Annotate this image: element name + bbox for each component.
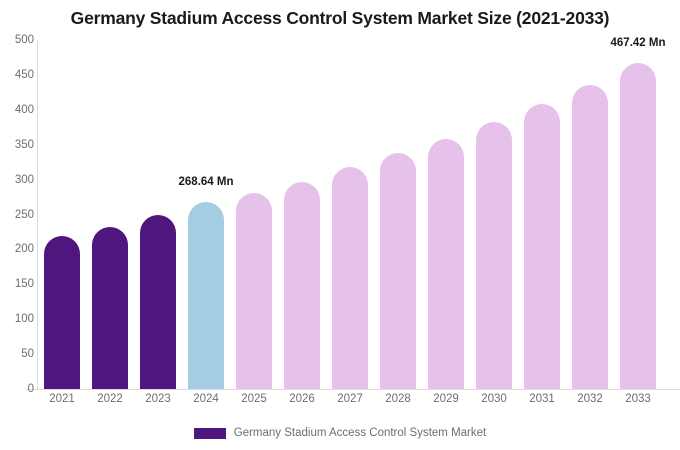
bar-slot (230, 40, 278, 389)
bar[interactable] (572, 85, 608, 389)
bar[interactable] (284, 182, 320, 389)
x-axis-tick-label: 2026 (278, 393, 326, 405)
chart-title: Germany Stadium Access Control System Ma… (0, 8, 680, 29)
bar[interactable] (140, 215, 176, 389)
bar-slot (278, 40, 326, 389)
x-axis-line (26, 389, 680, 390)
y-axis-tick-label: 500 (4, 34, 34, 46)
bar-slot (86, 40, 134, 389)
x-axis-tick-label: 2028 (374, 393, 422, 405)
bar-slot (326, 40, 374, 389)
x-axis-tick-label: 2030 (470, 393, 518, 405)
bar[interactable] (236, 193, 272, 389)
y-axis-tick-label: 450 (4, 69, 34, 81)
x-axis-tick-label: 2027 (326, 393, 374, 405)
legend-color-swatch (194, 428, 226, 439)
x-axis-tick-label: 2033 (614, 393, 662, 405)
y-axis-tick-labels: 050100150200250300350400450500 (0, 0, 34, 450)
x-axis-tick-label: 2029 (422, 393, 470, 405)
bar-slot (134, 40, 182, 389)
y-axis-tick-label: 300 (4, 174, 34, 186)
x-axis-tick-label: 2021 (38, 393, 86, 405)
bar-slot (470, 40, 518, 389)
x-axis-tick-label: 2025 (230, 393, 278, 405)
y-axis-tick-label: 250 (4, 209, 34, 221)
bar-slot (422, 40, 470, 389)
bar[interactable] (524, 104, 560, 389)
y-axis-tick-label: 0 (4, 383, 34, 395)
bar[interactable] (44, 236, 80, 389)
y-axis-tick-label: 50 (4, 348, 34, 360)
bar-slot (182, 40, 230, 389)
bar-slot (38, 40, 86, 389)
bar[interactable] (380, 153, 416, 389)
bar-series: 268.64 Mn467.42 Mn (38, 40, 680, 389)
x-axis-tick-label: 2031 (518, 393, 566, 405)
bar[interactable] (476, 122, 512, 389)
bar-value-label: 268.64 Mn (179, 176, 234, 188)
bar[interactable] (92, 227, 128, 389)
bar-slot (374, 40, 422, 389)
bar[interactable] (332, 167, 368, 389)
bar[interactable] (428, 139, 464, 389)
bar-slot (518, 40, 566, 389)
chart-legend: Germany Stadium Access Control System Ma… (0, 427, 680, 439)
y-axis-tick-label: 200 (4, 243, 34, 255)
y-axis-tick-label: 100 (4, 313, 34, 325)
bar-value-label: 467.42 Mn (611, 37, 666, 49)
x-axis-tick-label: 2022 (86, 393, 134, 405)
chart-container: Germany Stadium Access Control System Ma… (0, 0, 680, 450)
bar[interactable] (188, 202, 224, 390)
y-axis-tick-label: 400 (4, 104, 34, 116)
y-axis-tick-label: 350 (4, 139, 34, 151)
x-axis-tick-label: 2032 (566, 393, 614, 405)
bar-slot (614, 40, 662, 389)
x-axis-tick-labels: 2021202220232024202520262027202820292030… (38, 393, 680, 413)
bar-slot (566, 40, 614, 389)
x-axis-tick-label: 2024 (182, 393, 230, 405)
legend-label[interactable]: Germany Stadium Access Control System Ma… (234, 427, 486, 439)
y-axis-tick-label: 150 (4, 278, 34, 290)
bar[interactable] (620, 63, 656, 389)
x-axis-tick-label: 2023 (134, 393, 182, 405)
